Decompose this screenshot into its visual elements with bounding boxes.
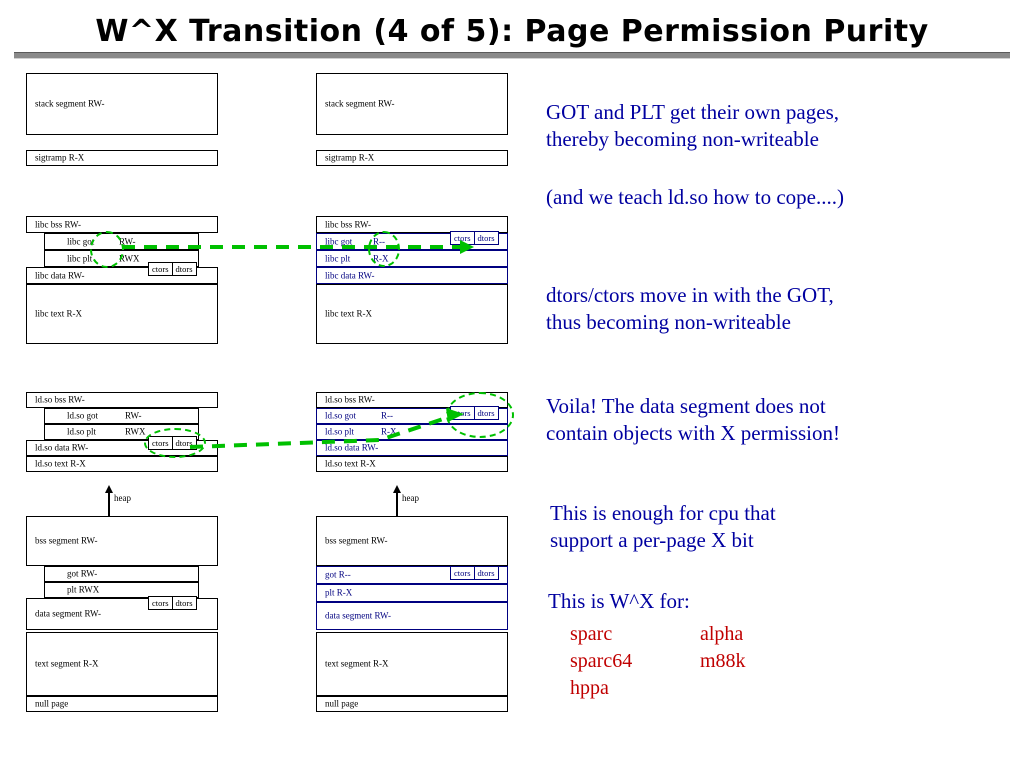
ctors-cell: ctors xyxy=(450,231,475,245)
segment-label: libc bss RW- xyxy=(35,220,81,229)
before-sigtramp-segment: sigtramp R-X xyxy=(26,150,218,166)
after-heap-arrow-shaft xyxy=(396,492,398,516)
after-ldso-data: ld.so data RW- xyxy=(316,440,508,456)
segment-label: plt RWX xyxy=(67,586,99,595)
after-ldso-plt: ld.so plt R-X xyxy=(316,424,508,440)
before-null-page: null page xyxy=(26,696,218,712)
segment-label: libc got xyxy=(325,237,352,246)
after-text-segment: text segment R-X xyxy=(316,632,508,696)
note-wx-for-heading: This is W^X for: xyxy=(548,588,968,615)
before-program-ctors-dtors: ctors dtors xyxy=(148,596,197,610)
dtors-cell: dtors xyxy=(173,596,197,610)
dtors-cell: dtors xyxy=(475,406,499,420)
title-divider xyxy=(14,52,1010,59)
segment-label: ld.so text R-X xyxy=(35,460,86,469)
segment-label: null page xyxy=(35,700,68,709)
before-bss-segment: bss segment RW- xyxy=(26,516,218,566)
segment-label: sigtramp R-X xyxy=(35,154,84,163)
before-libc-ctors-dtors: ctors dtors xyxy=(148,262,197,276)
before-ldso-ctors-dtors: ctors dtors xyxy=(148,436,197,450)
segment-label: null page xyxy=(325,700,358,709)
ctors-cell: ctors xyxy=(148,596,173,610)
segment-label: plt R-X xyxy=(325,589,352,598)
ctors-cell: ctors xyxy=(148,262,173,276)
segment-label: stack segment RW- xyxy=(35,100,105,109)
after-plt-segment: plt R-X xyxy=(316,584,508,602)
segment-permission: RW- xyxy=(125,412,142,421)
segment-label: libc plt xyxy=(325,254,350,263)
after-heap-label: heap xyxy=(402,494,419,503)
note-ldso-cope: (and we teach ld.so how to cope....) xyxy=(546,184,966,211)
segment-permission: RW- xyxy=(119,237,136,246)
after-data-segment: data segment RW- xyxy=(316,602,508,630)
after-ldso-text: ld.so text R-X xyxy=(316,456,508,472)
segment-label: ld.so bss RW- xyxy=(35,396,85,405)
after-program-ctors-dtors: ctors dtors xyxy=(450,566,499,580)
segment-label: ld.so got xyxy=(325,412,356,421)
segment-label: ld.so data RW- xyxy=(325,444,378,453)
segment-label: ld.so data RW- xyxy=(35,444,88,453)
before-stack-segment: stack segment RW- xyxy=(26,73,218,135)
ctors-cell: ctors xyxy=(148,436,173,450)
segment-label: got RW- xyxy=(67,570,97,579)
after-sigtramp-segment: sigtramp R-X xyxy=(316,150,508,166)
arch-list-right: alpha m88k xyxy=(700,621,746,675)
segment-label: libc data RW- xyxy=(35,271,85,280)
segment-label: text segment R-X xyxy=(35,660,99,669)
segment-label: got R-- xyxy=(325,571,351,580)
segment-permission: RWX xyxy=(125,428,146,437)
segment-label: libc text R-X xyxy=(35,310,82,319)
segment-label: ld.so bss RW- xyxy=(325,396,375,405)
segment-label: data segment RW- xyxy=(35,610,101,619)
before-libc-got: libc got RW- xyxy=(44,233,199,250)
before-got-segment: got RW- xyxy=(44,566,199,582)
page-title: W^X Transition (4 of 5): Page Permission… xyxy=(0,14,1024,49)
segment-label: stack segment RW- xyxy=(325,100,395,109)
before-ldso-text: ld.so text R-X xyxy=(26,456,218,472)
segment-label: bss segment RW- xyxy=(325,537,388,546)
dtors-cell: dtors xyxy=(173,262,197,276)
after-stack-segment: stack segment RW- xyxy=(316,73,508,135)
before-ldso-got: ld.so got RW- xyxy=(44,408,199,424)
after-libc-ctors-dtors: ctors dtors xyxy=(450,231,499,245)
segment-label: ld.so plt xyxy=(325,428,354,437)
segment-label: ld.so got xyxy=(67,412,98,421)
note-per-page-x-bit: This is enough for cpu that support a pe… xyxy=(550,500,970,554)
segment-label: libc plt xyxy=(67,254,92,263)
note-got-plt-own-pages: GOT and PLT get their own pages, thereby… xyxy=(546,99,966,153)
segment-permission: R-X xyxy=(381,428,397,437)
before-heap-arrow-shaft xyxy=(108,492,110,516)
before-libc-text: libc text R-X xyxy=(26,284,218,344)
before-libc-bss: libc bss RW- xyxy=(26,216,218,233)
after-libc-data: libc data RW- xyxy=(316,267,508,284)
segment-label: text segment R-X xyxy=(325,660,389,669)
segment-permission: R-- xyxy=(381,412,393,421)
before-ldso-bss: ld.so bss RW- xyxy=(26,392,218,408)
note-voila-data-segment: Voila! The data segment does not contain… xyxy=(546,393,966,447)
segment-label: bss segment RW- xyxy=(35,537,98,546)
segment-label: libc text R-X xyxy=(325,310,372,319)
ctors-cell: ctors xyxy=(450,566,475,580)
dtors-cell: dtors xyxy=(173,436,197,450)
note-dtors-ctors-move: dtors/ctors move in with the GOT, thus b… xyxy=(546,282,966,336)
dtors-cell: dtors xyxy=(475,566,499,580)
segment-label: ld.so text R-X xyxy=(325,460,376,469)
arch-list-left: sparc sparc64 hppa xyxy=(570,621,632,702)
after-ldso-ctors-dtors: ctors dtors xyxy=(450,406,499,420)
segment-label: libc data RW- xyxy=(325,271,375,280)
segment-label: sigtramp R-X xyxy=(325,154,374,163)
after-null-page: null page xyxy=(316,696,508,712)
segment-permission: R-- xyxy=(373,237,385,246)
after-libc-text: libc text R-X xyxy=(316,284,508,344)
dtors-cell: dtors xyxy=(475,231,499,245)
segment-permission: RWX xyxy=(119,254,140,263)
before-text-segment: text segment R-X xyxy=(26,632,218,696)
after-heap-arrow-head xyxy=(393,485,401,493)
segment-permission: R-X xyxy=(373,254,389,263)
segment-label: ld.so plt xyxy=(67,428,96,437)
segment-label: libc bss RW- xyxy=(325,220,371,229)
after-bss-segment: bss segment RW- xyxy=(316,516,508,566)
segment-label: libc got xyxy=(67,237,94,246)
ctors-cell: ctors xyxy=(450,406,475,420)
before-heap-label: heap xyxy=(114,494,131,503)
segment-label: data segment RW- xyxy=(325,612,391,621)
before-heap-arrow-head xyxy=(105,485,113,493)
after-libc-plt: libc plt R-X xyxy=(316,250,508,267)
